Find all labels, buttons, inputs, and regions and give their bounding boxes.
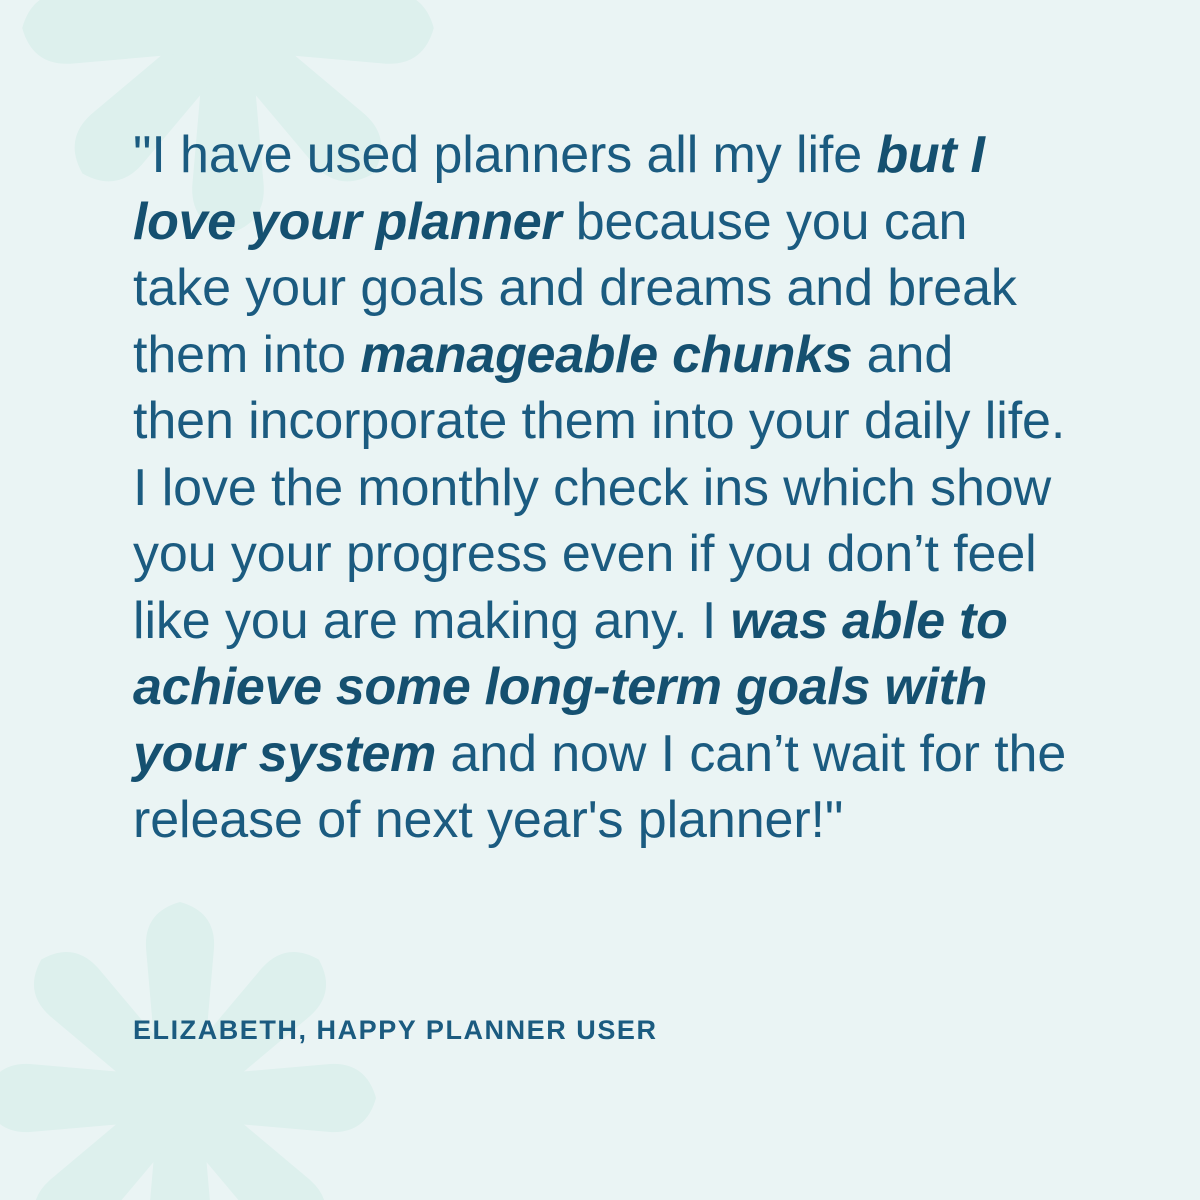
quote-segment-emphasis-2: manageable chunks — [360, 326, 852, 384]
quote-attribution: ELIZABETH, HAPPY PLANNER USER — [133, 1015, 658, 1046]
testimonial-quote: "I have used planners all my life but I … — [133, 122, 1068, 854]
content-column: "I have used planners all my life but I … — [133, 0, 1073, 1200]
quote-segment-plain-1: "I have used planners all my life — [133, 126, 876, 184]
testimonial-card: "I have used planners all my life but I … — [0, 0, 1200, 1200]
